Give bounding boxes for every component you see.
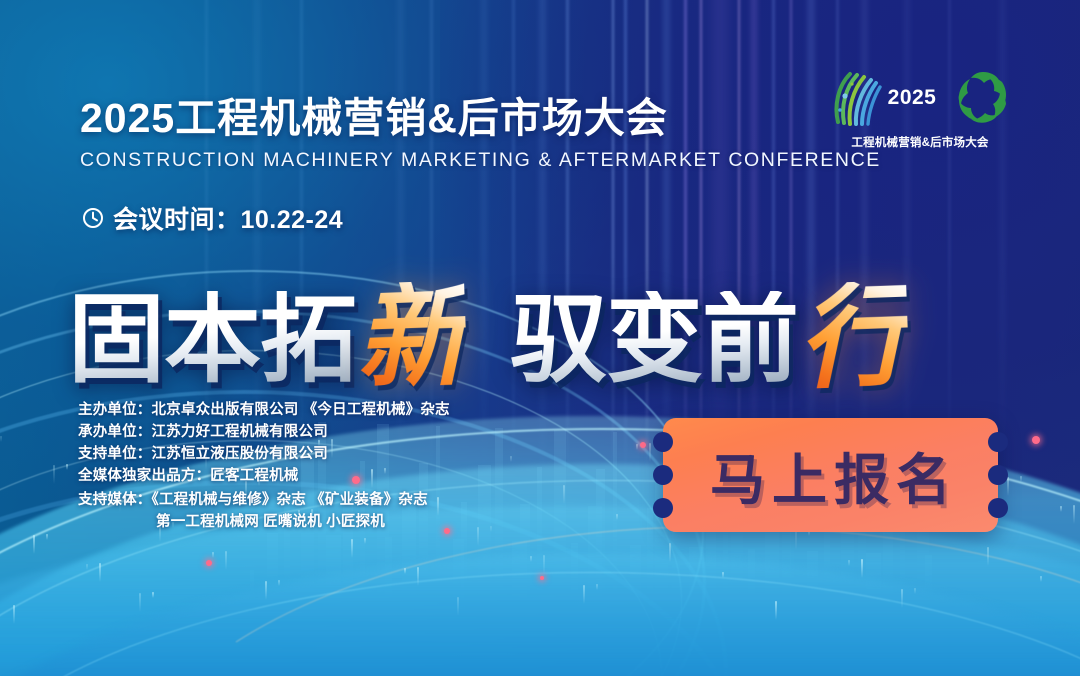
ticket-notch — [653, 498, 673, 518]
page-title: 2025工程机械营销&后市场大会 — [80, 96, 780, 142]
wave-spark — [99, 563, 101, 582]
wave-spark — [1007, 477, 1009, 496]
credit-line: 承办单位：江苏力好工程机械有限公司 — [78, 422, 538, 443]
wave-spark — [563, 485, 565, 504]
wave-spark — [775, 601, 777, 620]
wave-spark — [1060, 506, 1062, 512]
wave-spark — [861, 559, 863, 578]
wave-spark — [901, 589, 903, 608]
wave-spark — [1073, 505, 1075, 524]
wave-glow-dot — [1032, 436, 1040, 444]
wave-spark — [33, 535, 35, 554]
date-label: 会议时间：10.22-24 — [113, 200, 343, 236]
clock-icon — [82, 207, 104, 229]
wave-spark — [457, 597, 459, 616]
wave-glow-dot — [540, 576, 544, 580]
wave-spark — [795, 531, 797, 550]
logo-subtitle: 工程机械营销&后市场大会 — [838, 134, 1002, 150]
credit-line: 全媒体独家出品方：匠客工程机械 — [78, 466, 538, 487]
credit-line: 支持单位：江苏恒立液压股份有限公司 — [78, 444, 538, 465]
wave-spark — [278, 580, 280, 586]
wave-glow-dot — [640, 442, 646, 448]
ticket-notch — [653, 465, 673, 485]
wave-spark — [669, 543, 671, 562]
register-now-label: 马上报名 — [703, 435, 958, 515]
wave-glow-dot — [206, 560, 212, 566]
wave-spark — [66, 464, 68, 470]
wave-spark — [616, 514, 618, 520]
credit-line: 第一工程机械网 匠嘴说机 小匠探机 — [78, 512, 538, 533]
ticket-notch — [988, 498, 1008, 518]
logo-year: 2025 — [886, 87, 939, 108]
organizer-credits: 主办单位：北京卓众出版有限公司 《今日工程机械》杂志承办单位：江苏力好工程机械有… — [78, 400, 538, 534]
wave-spark — [417, 567, 419, 586]
wave-spark — [583, 585, 585, 604]
ticket-notch — [988, 432, 1008, 452]
conference-banner: 2025 工程机械营销&后市场大会 2025工程机械营销&后市场大会 — [0, 0, 1080, 676]
wave-spark — [649, 443, 651, 462]
wave-spark — [364, 538, 366, 544]
main-slogan: 固本拓 新 驭变前 行 — [68, 258, 1018, 388]
wave-spark — [139, 593, 141, 612]
ribbon-fan-icon — [830, 66, 882, 128]
slogan-part1-brush: 新 — [354, 280, 468, 396]
register-now-button[interactable]: 马上报名 — [663, 418, 998, 532]
wave-spark — [848, 560, 850, 566]
green-wreath-icon — [956, 69, 1010, 125]
wave-spark — [1020, 476, 1022, 482]
wave-spark — [152, 592, 154, 598]
slogan-row: 固本拓 新 驭变前 行 — [68, 258, 1018, 388]
wave-spark — [86, 564, 88, 570]
wave-spark — [13, 605, 15, 624]
wave-spark — [351, 539, 353, 558]
banner-header: 2025工程机械营销&后市场大会 CONSTRUCTION MACHINERY … — [80, 96, 780, 172]
slogan-part1-white: 固本拓 — [68, 291, 356, 388]
wave-spark — [530, 556, 532, 562]
wave-spark — [722, 572, 724, 578]
slogan-part2-white: 驭变前 — [510, 291, 798, 388]
wave-spark — [53, 465, 55, 484]
wave-spark — [404, 568, 406, 574]
wave-spark — [543, 555, 545, 574]
wave-spark — [265, 581, 267, 600]
credit-line: 支持媒体：《工程机械与维修》杂志 《矿业装备》杂志 — [78, 490, 538, 511]
conference-date: 会议时间：10.22-24 — [82, 200, 343, 236]
wave-spark — [46, 534, 48, 540]
credit-line: 主办单位：北京卓众出版有限公司 《今日工程机械》杂志 — [78, 400, 538, 421]
wave-spark — [987, 547, 989, 566]
ticket-notch — [653, 432, 673, 452]
wave-spark — [636, 444, 638, 450]
logo-marks-row: 2025 — [838, 58, 1002, 136]
page-subtitle-en: CONSTRUCTION MACHINERY MARKETING & AFTER… — [80, 149, 780, 172]
wave-spark — [0, 436, 2, 442]
wave-spark — [225, 551, 227, 570]
slogan-part2-brush: 行 — [796, 280, 910, 396]
wave-spark — [596, 584, 598, 590]
wave-spark — [212, 552, 214, 558]
ticket-notch — [988, 465, 1008, 485]
wave-spark — [1040, 576, 1042, 582]
wave-spark — [914, 588, 916, 594]
